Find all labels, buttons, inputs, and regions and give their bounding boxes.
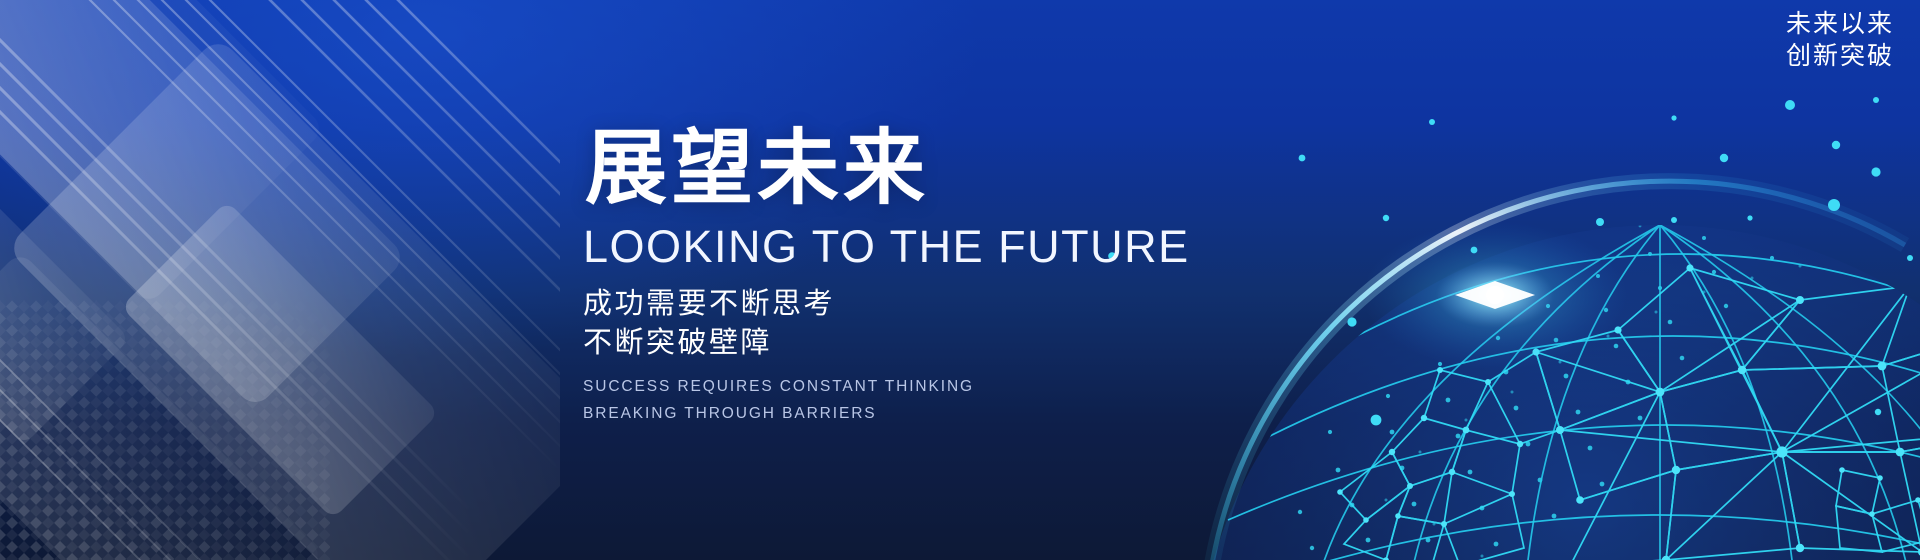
corner-slogan: 未来以来 创新突破 bbox=[1786, 8, 1894, 72]
corner-slogan-line-1: 未来以来 bbox=[1786, 8, 1894, 40]
page-title: 展望未来 bbox=[585, 128, 1203, 210]
chinese-tagline-group: 成功需要不断思考 不断突破壁障 bbox=[583, 285, 1203, 362]
headline-block: 展望未来 LOOKING TO THE FUTURE 成功需要不断思考 不断突破… bbox=[583, 128, 1203, 427]
english-caption-group: SUCCESS REQUIRES CONSTANT THINKING BREAK… bbox=[583, 374, 1203, 427]
banner-root: 展望未来 LOOKING TO THE FUTURE 成功需要不断思考 不断突破… bbox=[0, 0, 1920, 560]
chinese-tagline-1: 成功需要不断思考 bbox=[583, 285, 1203, 324]
light-flare-icon bbox=[1363, 221, 1627, 369]
english-caption-2: BREAKING THROUGH BARRIERS bbox=[583, 401, 1203, 428]
english-caption-1: SUCCESS REQUIRES CONSTANT THINKING bbox=[583, 374, 1203, 401]
corner-slogan-line-2: 创新突破 bbox=[1786, 40, 1894, 72]
page-subtitle: LOOKING TO THE FUTURE bbox=[583, 224, 1203, 269]
chinese-tagline-2: 不断突破壁障 bbox=[583, 324, 1203, 363]
